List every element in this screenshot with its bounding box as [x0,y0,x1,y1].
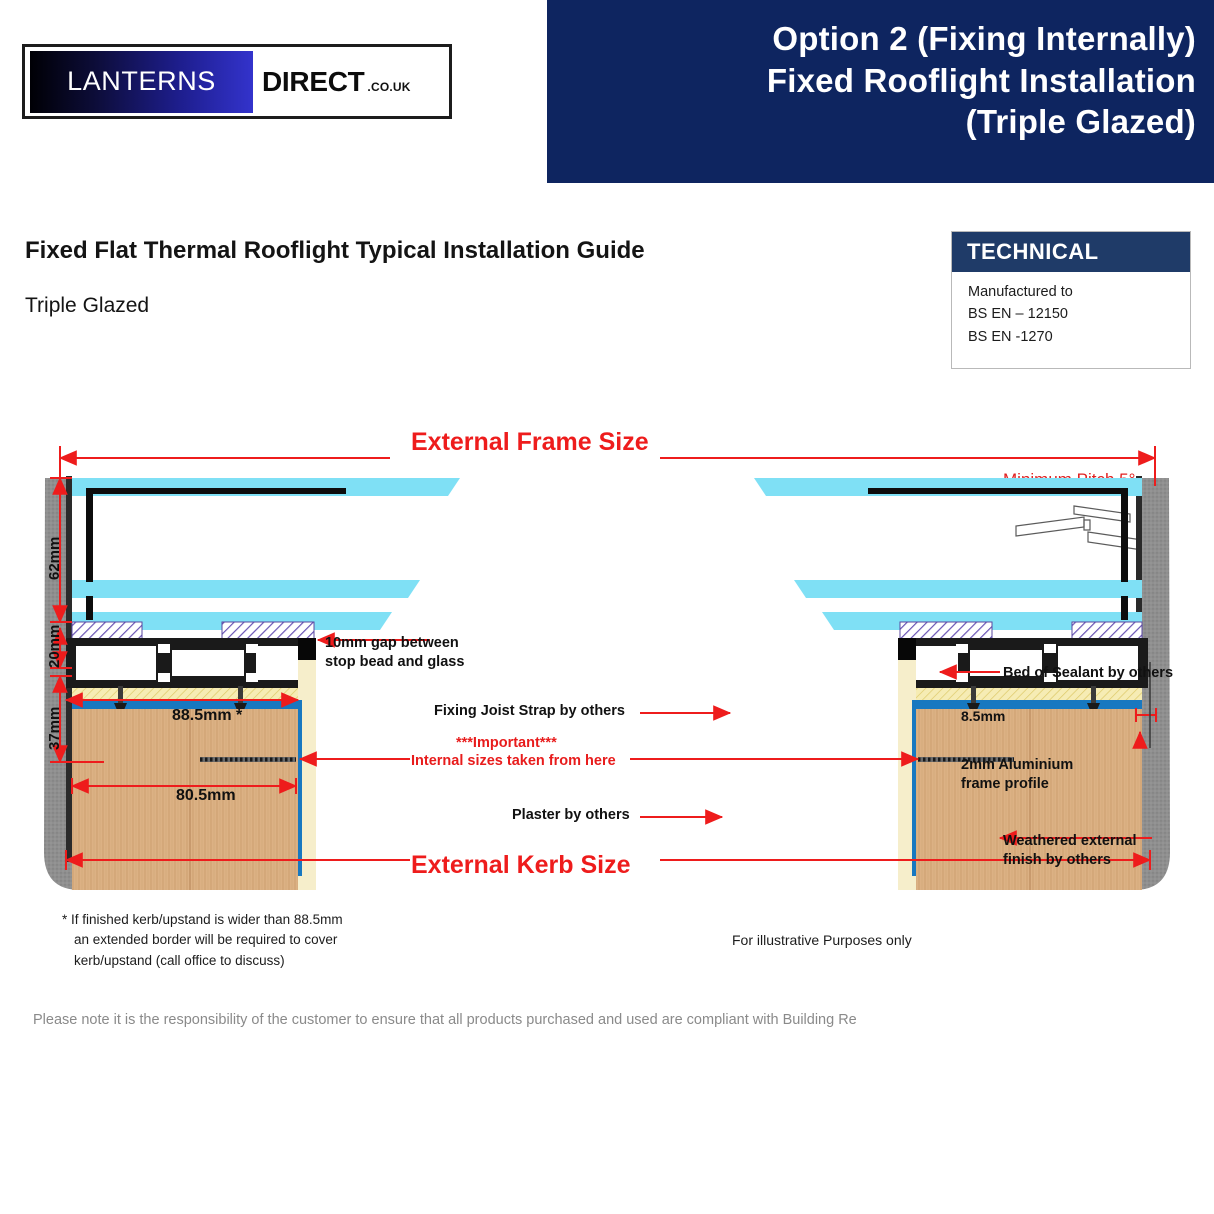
callout-plaster: Plaster by others [512,806,630,825]
header-title: Option 2 (Fixing Internally) Fixed Roofl… [566,18,1196,143]
spacer-edge-lower-right [1121,596,1128,620]
dim-label-62mm: 62mm [46,537,63,580]
brand-word-lanterns: LANTERNS [67,66,216,97]
callout-weathered-finish-line-2: finish by others [1003,851,1137,870]
callout-stop-bead-line-2: stop bead and glass [325,653,464,672]
page-subtitle: Triple Glazed [25,294,149,318]
technical-box-body: Manufactured to BS EN – 12150 BS EN -127… [952,272,1190,348]
technical-line-3: BS EN -1270 [968,326,1190,348]
external-frame-size-label: External Frame Size [411,428,649,457]
callout-bed-of-sealant: Bed of Sealant by others [1003,664,1173,683]
technical-line-1: Manufactured to [968,281,1190,303]
technical-line-2: BS EN – 12150 [968,303,1190,325]
fixing-joist-strap-left [200,757,296,762]
kerb-note-line-1: * If finished kerb/upstand is wider than… [62,910,343,930]
header-title-line-1: Option 2 (Fixing Internally) [566,18,1196,60]
stop-bead-hatch-right-b [900,622,992,640]
spacer-edge-upper-left [86,488,93,582]
stop-bead-hatch-left-a [72,622,142,640]
dim-label-8-5mm: 8.5mm [961,708,1005,724]
header-title-line-3: (Triple Glazed) [566,101,1196,143]
frame-profile-section-left [66,638,314,688]
brand-logo: LANTERNS DIRECT .CO.UK [22,44,452,119]
callout-alu-frame-profile-line-2: frame profile [961,775,1073,794]
brand-logo-left: LANTERNS [30,51,253,113]
stop-bead-block-left [298,638,316,660]
dpc-membrane-right [906,700,1142,709]
bed-of-sealant-left [72,688,308,700]
callout-weathered-finish: Weathered external finish by others [1003,832,1137,871]
technical-box: TECHNICAL Manufactured to BS EN – 12150 … [951,231,1191,369]
spacer-edge-lower-left [86,596,93,620]
header-title-line-2: Fixed Rooflight Installation [566,60,1196,102]
callout-alu-frame-profile-line-1: 2mm Aluminium [961,756,1073,775]
external-kerb-size-label: External Kerb Size [411,851,631,880]
dim-label-88-5mm: 88.5mm * [172,707,242,725]
brand-word-direct: DIRECT [262,66,364,98]
left-section-assembly [44,476,460,890]
stop-bead-block-right [898,638,916,660]
callout-internal-sizes: Internal sizes taken from here [411,752,616,771]
kerb-upstand-note: * If finished kerb/upstand is wider than… [62,910,343,971]
callout-weathered-finish-line-1: Weathered external [1003,832,1137,851]
illustrative-purposes-note: For illustrative Purposes only [732,932,912,948]
compliance-note: Please note it is the responsibility of … [33,1012,857,1028]
stop-bead-hatch-right-a [1072,622,1142,640]
callout-fixing-joist-strap: Fixing Joist Strap by others [434,702,625,721]
dim-label-20mm: 20mm [46,625,63,668]
callout-stop-bead: 10mm gap between stop bead and glass [325,634,464,673]
callout-stop-bead-line-1: 10mm gap between [325,634,464,653]
page-title: Fixed Flat Thermal Rooflight Typical Ins… [25,237,645,265]
spacer-edge-upper-right [1121,488,1128,582]
brand-logo-right: DIRECT .CO.UK [253,66,449,98]
dim-label-80-5mm: 80.5mm [176,787,236,805]
kerb-note-line-2: an extended border will be required to c… [62,930,343,950]
spacer-bar-upper-right [868,488,1128,494]
bed-of-sealant-right [906,688,1142,700]
spacer-bar-upper-left [86,488,346,494]
brand-tld: .CO.UK [367,80,410,94]
callout-important: ***Important*** [456,734,557,753]
installation-section-drawing [0,400,1214,980]
technical-box-heading: TECHNICAL [952,232,1190,272]
stop-bead-hatch-left-b [222,622,314,640]
callout-alu-frame-profile: 2mm Aluminium frame profile [961,756,1073,795]
glass-pane-middle-right [794,580,1142,598]
dim-label-37mm: 37mm [46,707,63,750]
glass-pane-middle-left [72,580,420,598]
kerb-note-line-3: kerb/upstand (call office to discuss) [62,951,343,971]
